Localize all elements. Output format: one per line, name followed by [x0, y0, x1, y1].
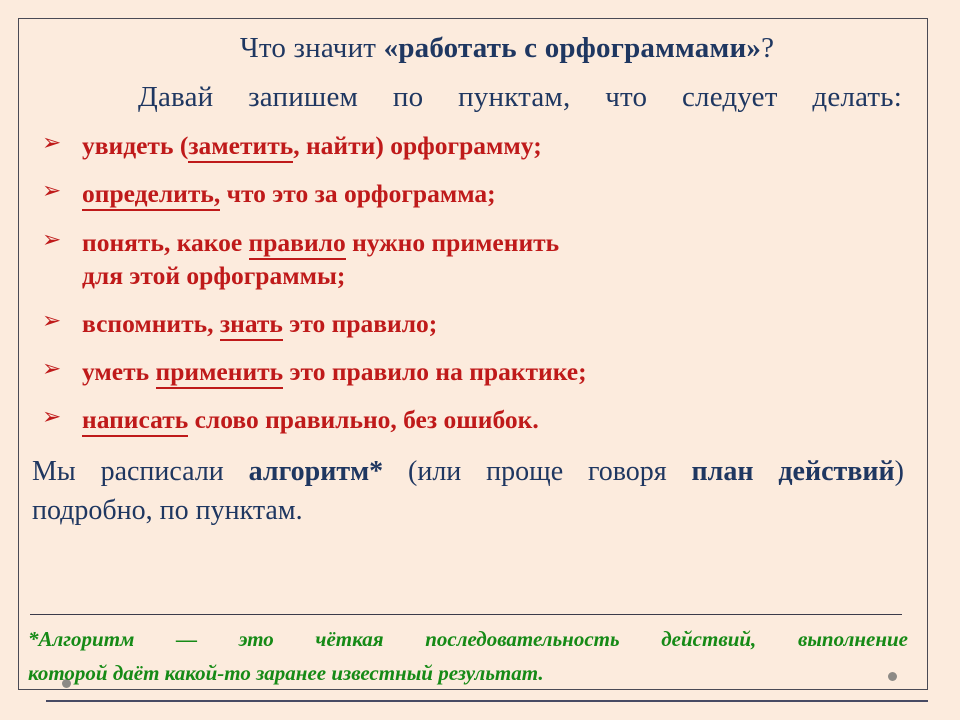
list-item-pre: увидеть ( [82, 131, 188, 160]
heading-block: Что значит «работать с орфограммами»? Да… [32, 26, 914, 118]
closing-term-plan: план действий [692, 456, 895, 487]
list-item-keyword: правило [249, 228, 346, 260]
footnote-separator [30, 614, 902, 615]
list-item-text: увидеть (заметить, найти) орфограмму; [82, 130, 914, 161]
list-item: ➢ увидеть (заметить, найти) орфограмму; [32, 130, 914, 161]
list-item-post: это правило на практике; [283, 357, 586, 386]
list-item-text: уметь применить это правило на практике; [82, 356, 914, 387]
list-item-keyword: определить, [82, 179, 220, 211]
list-item-keyword: написать [82, 405, 188, 437]
bottom-double-rule [46, 700, 928, 702]
heading-question: Что значит «работать с орфограммами»? [112, 28, 902, 69]
heading-question-post: ? [761, 32, 774, 64]
list-item-post: это правило; [283, 309, 437, 338]
list-item-keyword: заметить [188, 131, 293, 163]
closing-part2: (или проще говоря [383, 456, 691, 487]
list-item-text: понять, какое правило нужно применитьдля… [82, 227, 914, 291]
closing-term-algorithm: алгоритм* [249, 456, 384, 487]
arrow-bullet-icon: ➢ [42, 403, 61, 432]
arrow-bullet-icon: ➢ [42, 129, 61, 158]
list-item: ➢ понять, какое правило нужно применитьд… [32, 227, 914, 291]
list-item-post: что это за орфограмма; [220, 179, 495, 208]
steps-list: ➢ увидеть (заметить, найти) орфограмму; … [32, 130, 914, 435]
footnote: *Алгоритм — это чёткая последовательност… [28, 622, 908, 690]
list-item-second-line: для этой орфограммы; [82, 260, 914, 291]
slide: Что значит «работать с орфограммами»? Да… [0, 0, 960, 720]
list-item: ➢ написать слово правильно, без ошибок. [32, 404, 914, 435]
list-item-keyword: применить [156, 357, 284, 389]
arrow-bullet-icon: ➢ [42, 177, 61, 206]
list-item-text: определить, что это за орфограмма; [82, 178, 914, 209]
list-item-post: , найти) орфограмму; [293, 131, 541, 160]
list-item-post: нужно применить [346, 228, 559, 257]
list-item-keyword: знать [220, 309, 283, 341]
list-item-text: написать слово правильно, без ошибок. [82, 404, 914, 435]
arrow-bullet-icon: ➢ [42, 226, 61, 255]
closing-paragraph: Мы расписали алгоритм* (или проще говоря… [32, 452, 914, 530]
arrow-bullet-icon: ➢ [42, 307, 61, 336]
list-item-post: слово правильно, без ошибок. [188, 405, 538, 434]
closing-part1: Мы расписали [32, 456, 249, 487]
list-item-text: вспомнить, знать это правило; [82, 308, 914, 339]
arrow-bullet-icon: ➢ [42, 355, 61, 384]
footnote-line-1: *Алгоритм — это чёткая последовательност… [28, 622, 908, 656]
heading-question-bold: «работать с орфограммами» [384, 32, 761, 64]
list-item: ➢ вспомнить, знать это правило; [32, 308, 914, 339]
list-item-pre: понять, какое [82, 228, 249, 257]
closing-paragraph-text: Мы расписали алгоритм* (или проще говоря… [32, 456, 904, 526]
heading-question-pre: Что значит [240, 32, 384, 64]
list-item-pre: вспомнить, [82, 309, 220, 338]
list-item: ➢ определить, что это за орфограмма; [32, 178, 914, 209]
list-item-pre: уметь [82, 357, 156, 386]
footnote-line-2: которой даёт какой-то заранее известный … [28, 656, 908, 690]
heading-instruction: Давай запишем по пунктам, что следует де… [112, 77, 902, 118]
list-item: ➢ уметь применить это правило на практик… [32, 356, 914, 387]
slide-content: Что значит «работать с орфограммами»? Да… [18, 18, 928, 690]
